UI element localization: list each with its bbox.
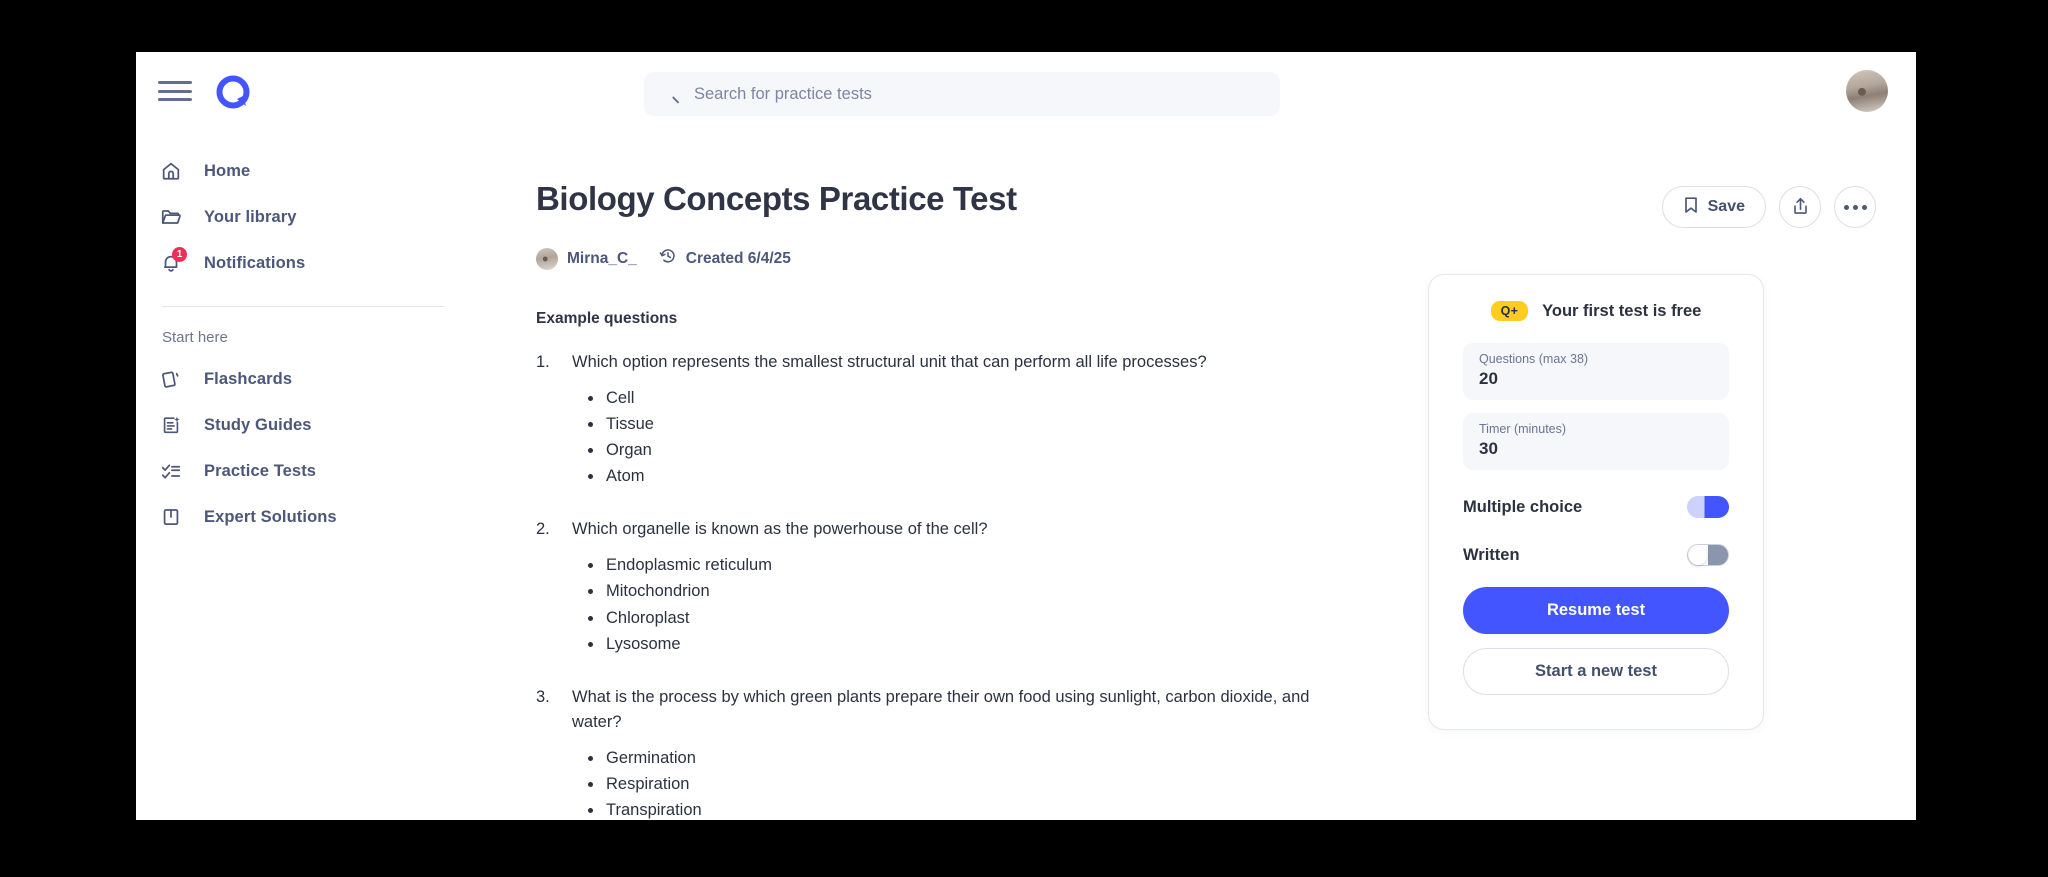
search-input[interactable]: [692, 84, 1264, 105]
search-icon: [660, 84, 680, 104]
sidebar-item-expert-solutions[interactable]: Expert Solutions: [136, 494, 486, 540]
sidebar-item-label: Notifications: [204, 254, 305, 273]
toggle-knob: [1709, 498, 1727, 516]
option-item: Germination: [604, 745, 1886, 771]
question-text: Which option represents the smallest str…: [572, 350, 1332, 375]
flashcards-icon: [158, 366, 184, 392]
panel-header: Q+ Your first test is free: [1463, 301, 1729, 321]
sidebar-item-study-guides[interactable]: Study Guides: [136, 402, 486, 448]
page-title: Biology Concepts Practice Test: [536, 180, 1017, 218]
timer-label: Timer (minutes): [1479, 422, 1713, 436]
created-date: Created 6/4/25: [686, 250, 791, 268]
folder-icon: [158, 204, 184, 230]
more-horizontal-icon: [1844, 205, 1867, 210]
title-row: Biology Concepts Practice Test Save: [536, 180, 1916, 228]
sidebar-item-label: Expert Solutions: [204, 508, 337, 527]
written-label: Written: [1463, 546, 1520, 565]
notification-badge: 1: [172, 247, 187, 262]
history-clock-icon: [659, 247, 677, 270]
option-item: Transpiration: [604, 797, 1886, 820]
sidebar: Home Your library 1: [136, 140, 486, 820]
meta-row: Mirna_C_ Created 6/4/25: [536, 247, 1916, 270]
question-options: Germination Respiration Transpiration Ph…: [572, 745, 1886, 820]
sidebar-item-label: Home: [204, 162, 250, 181]
save-button[interactable]: Save: [1662, 186, 1766, 228]
test-settings-panel: Q+ Your first test is free Questions (ma…: [1428, 274, 1764, 730]
option-item: Respiration: [604, 771, 1886, 797]
sidebar-item-home[interactable]: Home: [136, 148, 486, 194]
home-icon: [158, 158, 184, 184]
timer-value[interactable]: 30: [1479, 439, 1713, 459]
study-guides-icon: [158, 412, 184, 438]
question-number: 3.: [536, 685, 572, 820]
share-icon: [1791, 196, 1810, 219]
timer-field[interactable]: Timer (minutes) 30: [1463, 413, 1729, 470]
save-button-label: Save: [1708, 198, 1745, 216]
question-number: 2.: [536, 517, 572, 656]
hamburger-line: [158, 90, 192, 93]
written-row: Written: [1463, 531, 1729, 579]
resume-test-button[interactable]: Resume test: [1463, 587, 1729, 634]
share-button[interactable]: [1779, 186, 1821, 228]
practice-tests-icon: [158, 458, 184, 484]
avatar[interactable]: [1846, 70, 1888, 112]
author-name: Mirna_C_: [567, 250, 637, 268]
hamburger-line: [158, 98, 192, 101]
questions-count-field[interactable]: Questions (max 38) 20: [1463, 343, 1729, 400]
quizlet-logo-icon[interactable]: [212, 72, 256, 116]
author-info[interactable]: Mirna_C_: [536, 248, 637, 270]
hamburger-icon[interactable]: [158, 78, 192, 104]
multiple-choice-row: Multiple choice: [1463, 483, 1729, 531]
app-window: Home Your library 1: [136, 52, 1916, 820]
quizlet-plus-badge: Q+: [1491, 301, 1528, 321]
sidebar-item-notifications[interactable]: 1 Notifications: [136, 240, 486, 286]
sidebar-item-practice-tests[interactable]: Practice Tests: [136, 448, 486, 494]
sidebar-item-label: Practice Tests: [204, 462, 316, 481]
questions-count-value[interactable]: 20: [1479, 369, 1713, 389]
hamburger-line: [158, 81, 192, 84]
multiple-choice-toggle[interactable]: [1687, 496, 1729, 518]
question-number: 1.: [536, 350, 572, 489]
sidebar-item-label: Flashcards: [204, 370, 292, 389]
toggle-knob: [1689, 547, 1707, 565]
top-bar: [136, 52, 1916, 140]
sidebar-item-flashcards[interactable]: Flashcards: [136, 356, 486, 402]
search-bar[interactable]: [644, 72, 1280, 116]
bookmark-icon: [1683, 196, 1699, 219]
created-info: Created 6/4/25: [659, 247, 791, 270]
bell-icon: 1: [158, 250, 184, 276]
more-options-button[interactable]: [1834, 186, 1876, 228]
sidebar-item-label: Study Guides: [204, 416, 312, 435]
questions-count-label: Questions (max 38): [1479, 352, 1713, 366]
book-icon: [158, 504, 184, 530]
question-text: What is the process by which green plant…: [572, 685, 1332, 735]
question-text: Which organelle is known as the powerhou…: [572, 517, 1332, 542]
sidebar-item-your-library[interactable]: Your library: [136, 194, 486, 240]
author-avatar: [536, 248, 558, 270]
panel-headline: Your first test is free: [1542, 302, 1701, 321]
written-toggle[interactable]: [1687, 544, 1729, 566]
start-new-test-button[interactable]: Start a new test: [1463, 648, 1729, 695]
multiple-choice-label: Multiple choice: [1463, 498, 1582, 517]
sidebar-item-label: Your library: [204, 208, 297, 227]
title-actions: Save: [1662, 180, 1876, 228]
sidebar-section-label: Start here: [136, 307, 486, 356]
